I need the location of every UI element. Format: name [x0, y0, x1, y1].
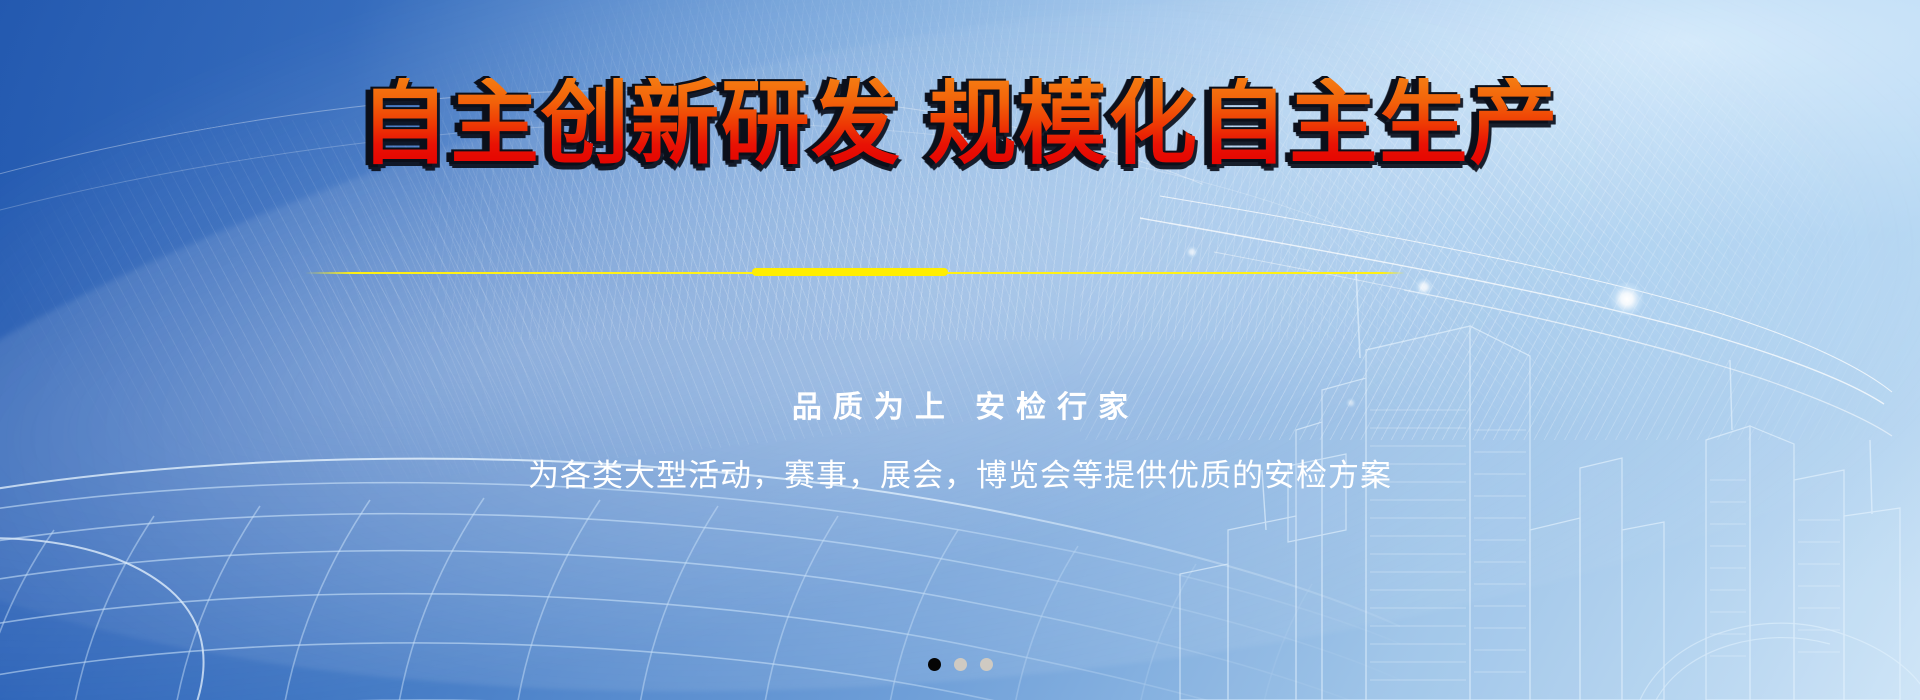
- banner-content: 自主创新研发 规模化自主生产 品质为上 安检行家 为各类大型活动，赛事，展会，博…: [0, 0, 1920, 700]
- divider-line-right: [945, 272, 1405, 274]
- banner-subtitle: 为各类大型活动，赛事，展会，博览会等提供优质的安检方案: [0, 450, 1920, 495]
- banner-headline: 自主创新研发 规模化自主生产: [38, 78, 1881, 170]
- carousel-dot-2[interactable]: [954, 658, 967, 671]
- carousel-dot-3[interactable]: [980, 658, 993, 671]
- banner-slogan: 品质为上 安检行家: [0, 382, 1920, 426]
- divider-center-bar: [752, 268, 948, 276]
- carousel-dot-1[interactable]: [928, 658, 941, 671]
- carousel-dots: [0, 658, 1920, 671]
- hero-banner-slide: 自主创新研发 规模化自主生产 品质为上 安检行家 为各类大型活动，赛事，展会，博…: [0, 0, 1920, 700]
